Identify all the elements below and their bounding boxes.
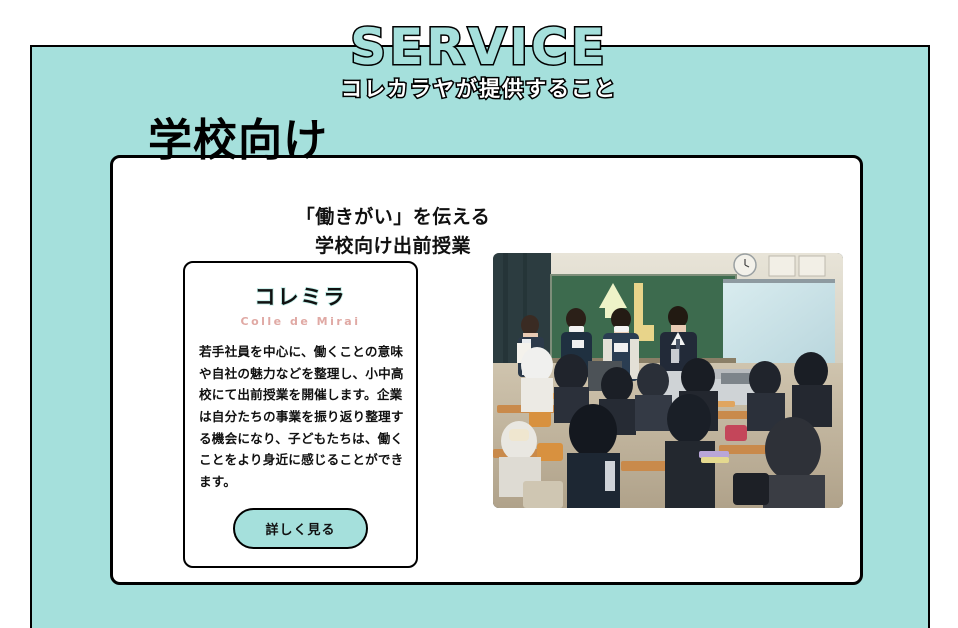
service-description: 若手社員を中心に、働くことの意味や自社の魅力などを整理し、小中高校にて出前授業を…	[199, 342, 404, 494]
button-row: 詳しく見る	[185, 508, 416, 549]
page-subtitle: コレカラヤが提供すること	[0, 77, 958, 102]
page-title: SERVICE	[0, 22, 958, 72]
logo: コレミラ Colle de Mirai	[185, 281, 416, 328]
card-heading: 「働きがい」を伝える 学校向け出前授業	[263, 203, 523, 262]
header-title-block: SERVICE コレカラヤが提供すること	[0, 22, 958, 102]
service-page: SERVICE コレカラヤが提供すること 学校向け 「働きがい」を伝える 学校向…	[0, 0, 958, 628]
detail-button[interactable]: 詳しく見る	[233, 508, 367, 549]
card-heading-line1: 「働きがい」を伝える	[263, 203, 523, 232]
service-card: 「働きがい」を伝える 学校向け出前授業 コレミラ Colle de Mirai …	[110, 155, 863, 585]
section-heading: 学校向け	[148, 116, 328, 167]
service-detail-box: コレミラ Colle de Mirai 若手社員を中心に、働くことの意味や自社の…	[183, 261, 418, 568]
classroom-photo	[493, 253, 843, 508]
logo-roman-text: Colle de Mirai	[185, 315, 416, 328]
card-heading-line2: 学校向け出前授業	[263, 232, 523, 261]
classroom-photo-graphic	[493, 253, 843, 508]
logo-kana-text: コレミラ	[185, 281, 416, 311]
